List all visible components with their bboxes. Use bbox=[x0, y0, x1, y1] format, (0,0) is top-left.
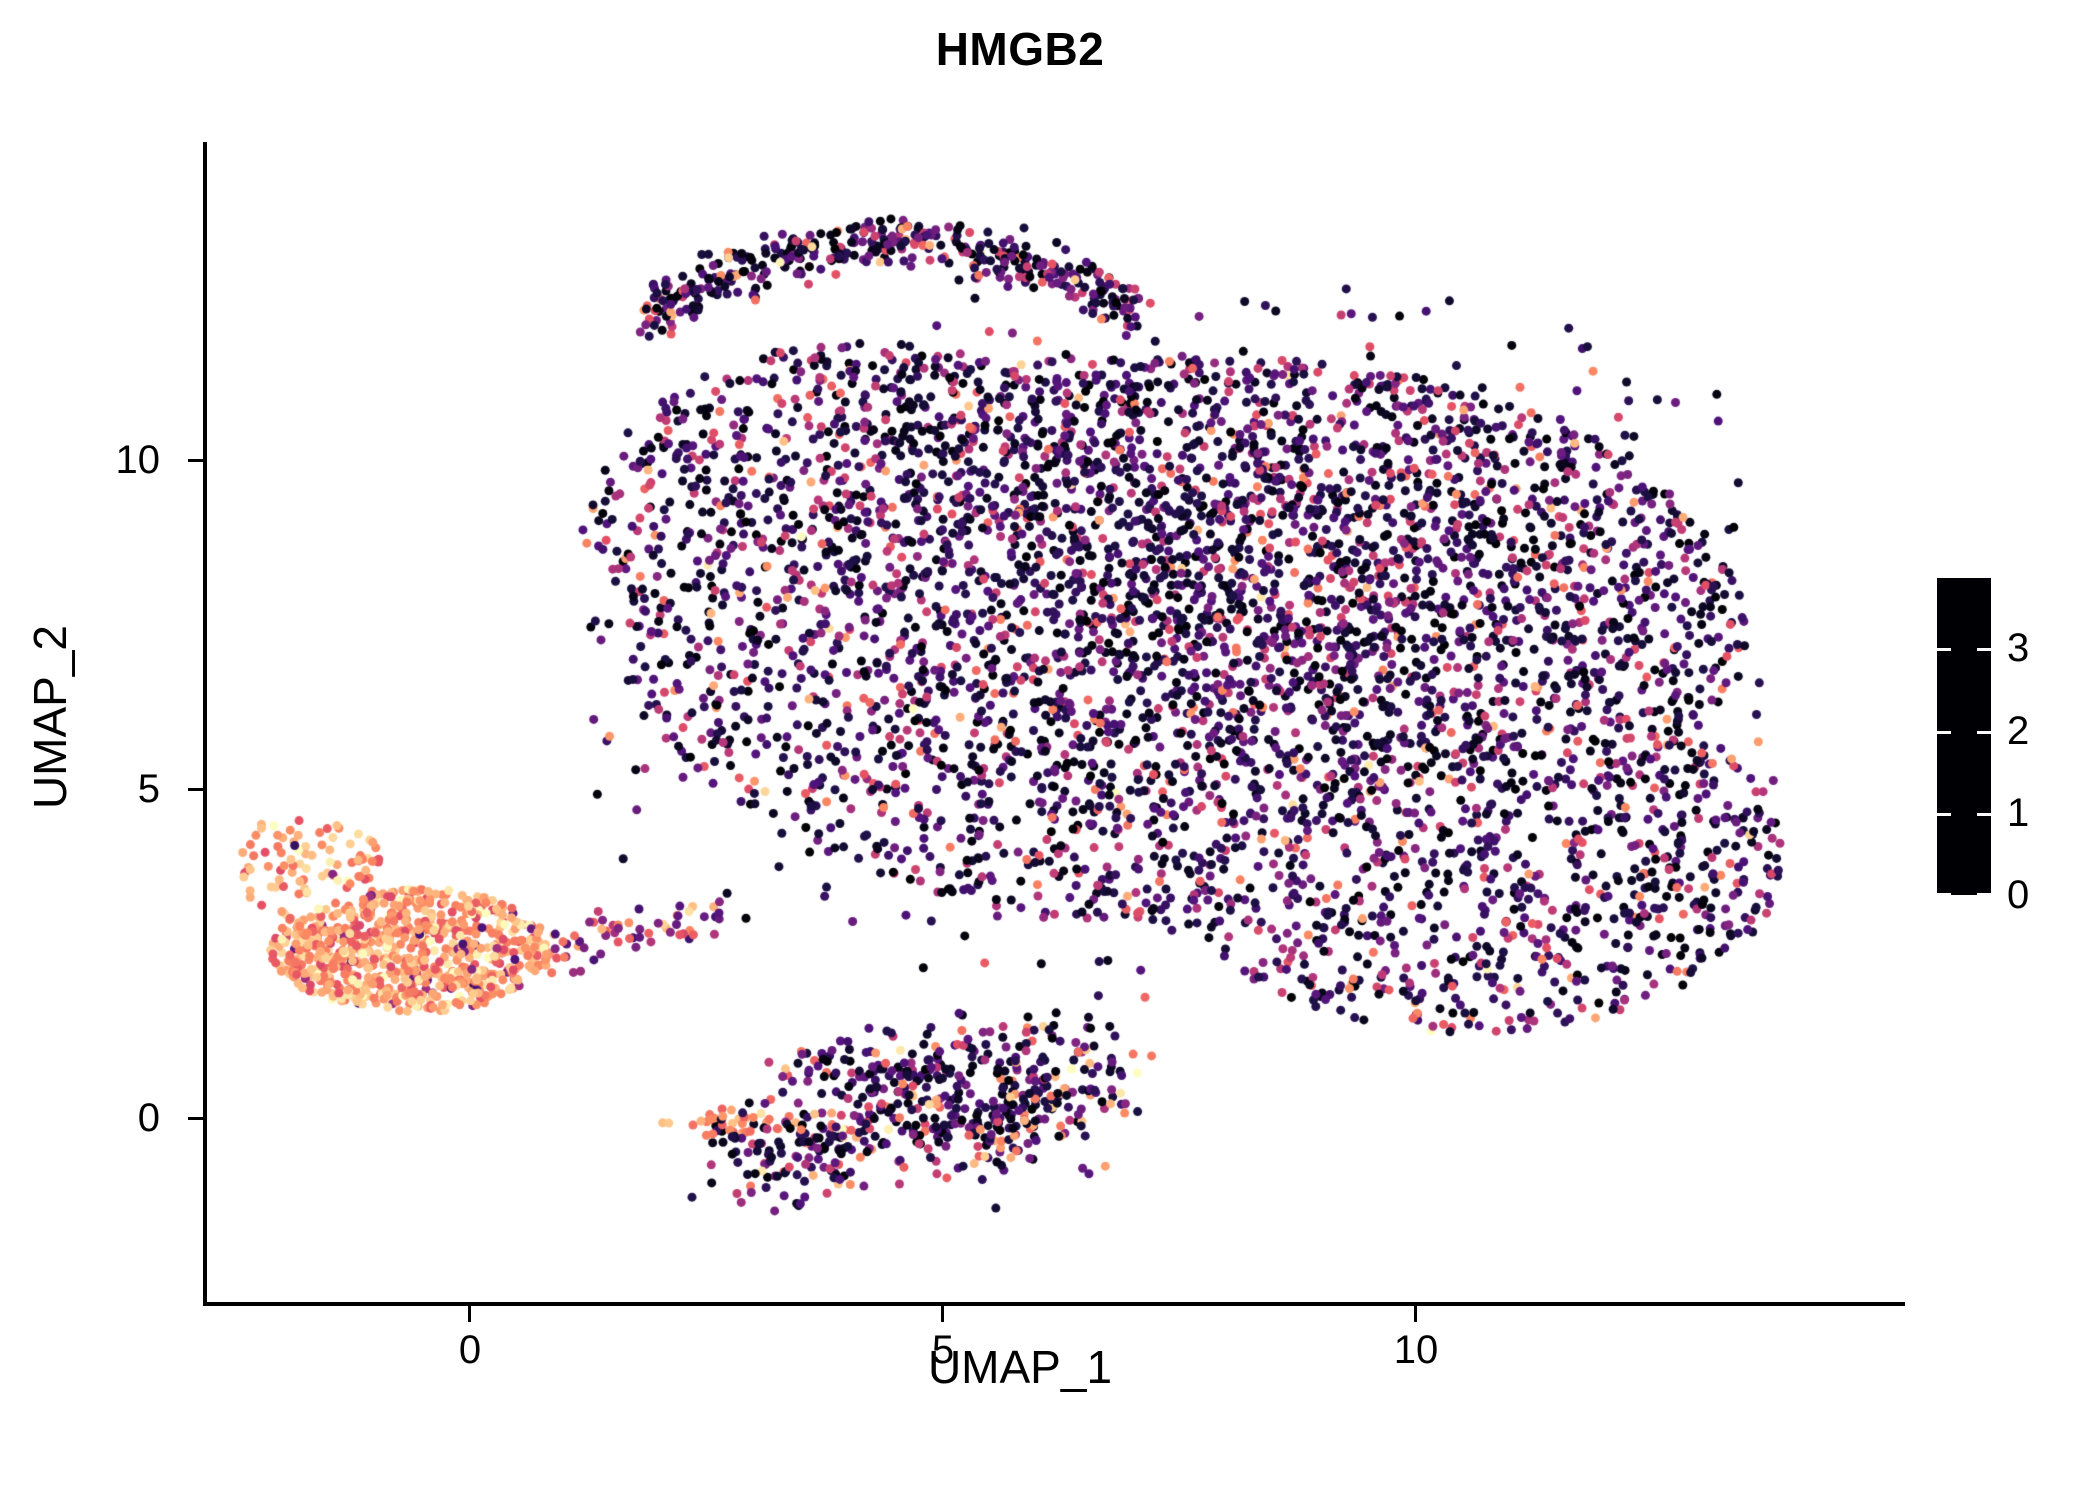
plot-panel bbox=[205, 142, 1905, 1303]
scatter-points-layer bbox=[205, 142, 1905, 1303]
y-axis-tick-0 bbox=[188, 1117, 204, 1120]
colorbar-label-2: 2 bbox=[2007, 711, 2029, 751]
x-axis-tick-5 bbox=[941, 1306, 944, 1322]
colorbar-label-1: 1 bbox=[2007, 793, 2029, 833]
colorbar-tick-1-left bbox=[1937, 813, 1951, 816]
y-axis-title: UMAP_2 bbox=[23, 397, 77, 1037]
y-axis-tick-5 bbox=[188, 788, 204, 791]
colorbar-tick-2-left bbox=[1937, 731, 1951, 734]
colorbar-tick-3-left bbox=[1937, 648, 1951, 651]
x-axis-title: UMAP_1 bbox=[0, 1340, 2040, 1394]
y-axis-line bbox=[203, 142, 207, 1306]
colorbar-label-0: 0 bbox=[2007, 875, 2029, 915]
page-title: HMGB2 bbox=[0, 22, 2040, 76]
colorbar-tick-1-right bbox=[1977, 813, 1991, 816]
colorbar-label-3: 3 bbox=[2007, 628, 2029, 668]
colorbar-tick-0-right bbox=[1977, 893, 1991, 896]
x-axis-tick-10 bbox=[1414, 1306, 1417, 1322]
x-axis-tick-0 bbox=[468, 1306, 471, 1322]
y-axis-tick-10 bbox=[188, 459, 204, 462]
x-axis-line bbox=[203, 1302, 1905, 1306]
colorbar-gradient bbox=[1937, 578, 1991, 895]
colorbar-tick-0-left bbox=[1937, 893, 1951, 896]
umap-feature-plot: HMGB2 0 5 10 10 5 0 UMAP_1 UMAP_2 3 2 1 … bbox=[0, 0, 2100, 1500]
colorbar-tick-2-right bbox=[1977, 731, 1991, 734]
colorbar-tick-3-right bbox=[1977, 648, 1991, 651]
y-axis-ticklabel-0: 0 bbox=[40, 1098, 160, 1138]
